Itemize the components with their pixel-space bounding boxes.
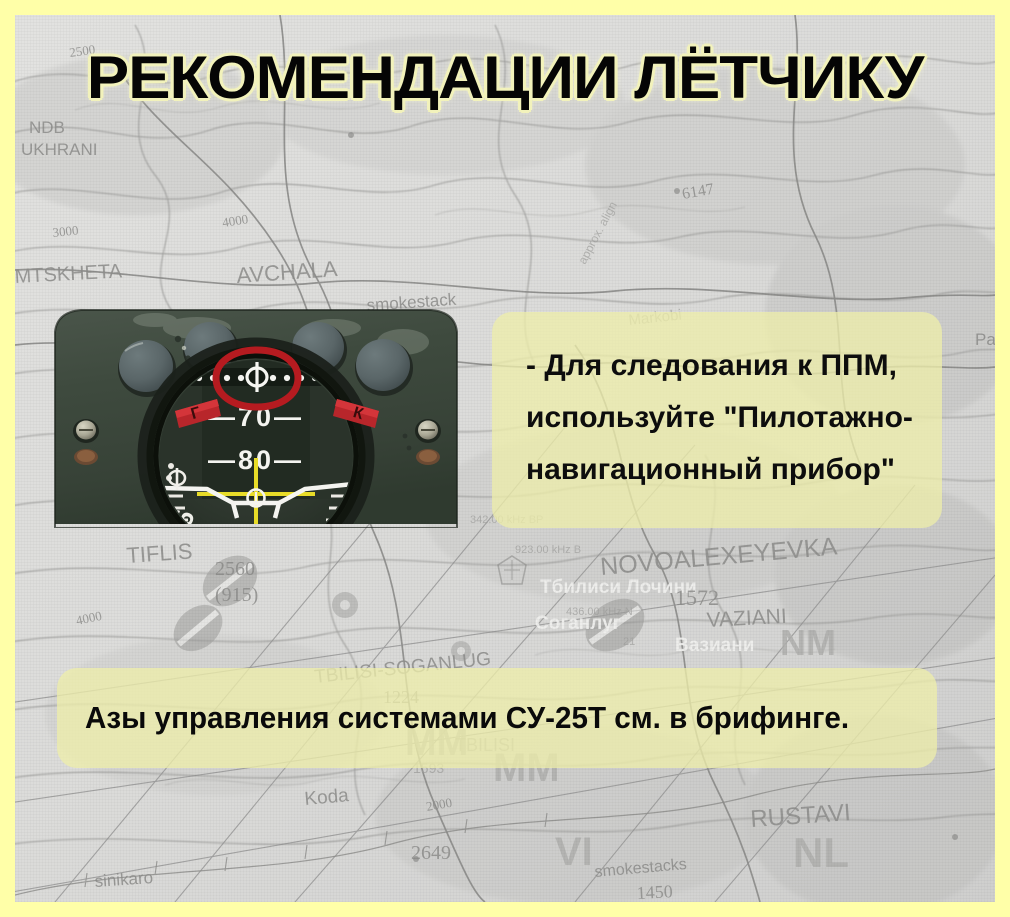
map-label: 1450: [636, 881, 673, 902]
map-label: 21: [623, 636, 635, 648]
note-box-bottom: Азы управления системами СУ-25Т см. в бр…: [57, 668, 937, 768]
note-box-right: - Для следования к ППМ, используйте "Пил…: [492, 312, 942, 528]
map-label: 2649: [411, 842, 451, 864]
instrument-svg: —70— —80—: [47, 306, 465, 528]
instrument-photo: —70— —80—: [47, 306, 465, 528]
map-label: NL: [793, 829, 849, 876]
map-label: UKHRANI: [21, 140, 98, 159]
map-label: (915): [215, 584, 258, 606]
map-label: 923.00 kHz B: [515, 544, 581, 556]
note-right-line-3: навигационный прибор": [526, 444, 916, 496]
map-label: Соганлуг: [535, 613, 621, 634]
map-label: Вазиани: [675, 635, 754, 656]
map-label: TIFLIS: [126, 538, 194, 568]
note-right-line-1: - Для следования к ППМ,: [526, 340, 916, 392]
map-label: Patar: [975, 330, 995, 349]
note-bottom-text: Азы управления системами СУ-25Т см. в бр…: [85, 700, 849, 736]
map-label: Koda: [304, 785, 350, 810]
map-label: 1572: [675, 585, 719, 610]
map-label: NDB: [29, 118, 65, 137]
map-label: NM: [780, 622, 836, 663]
map-label: VI: [555, 830, 593, 874]
page-title: РЕКОМЕНДАЦИИ ЛЁТЧИКУ: [0, 46, 1010, 110]
map-label: 3000: [52, 222, 79, 240]
map-label: VAZIANI: [706, 605, 787, 632]
map-label: Тбилиси Лочини: [540, 577, 697, 598]
map-label: 2560: [215, 558, 255, 580]
slide-root: 2500NDBUKHRANI30004000MTSKHETAAVCHALAsmo…: [0, 0, 1010, 917]
note-right-line-2: используйте "Пилотажно-: [526, 392, 916, 444]
